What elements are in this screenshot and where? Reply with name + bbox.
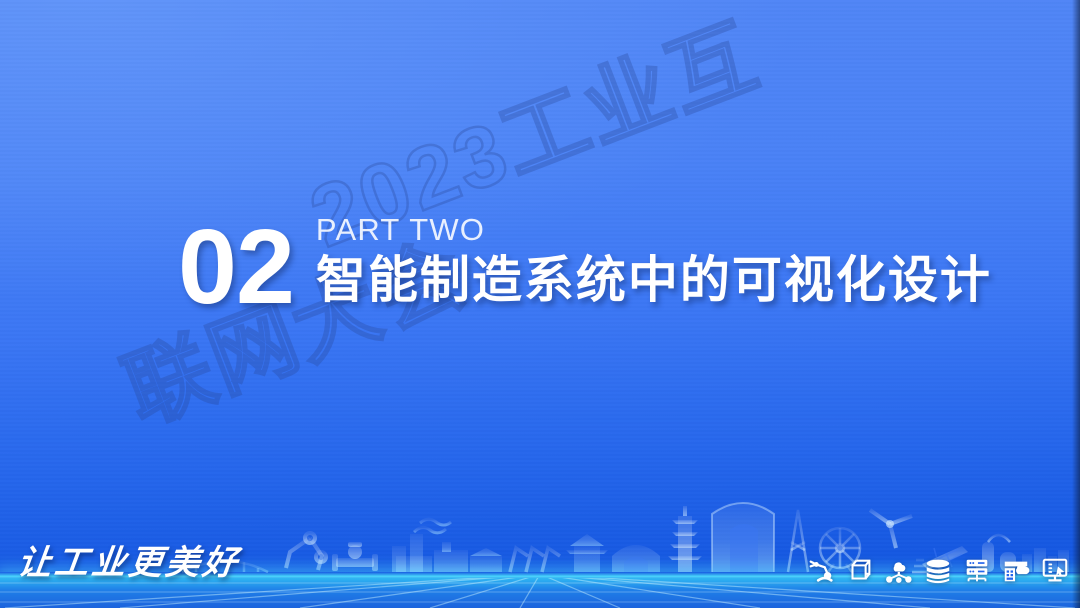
lattice-tower-silhouette xyxy=(788,510,808,572)
warehouse-silhouette xyxy=(470,548,502,572)
brand-slogan: 让工业更美好 xyxy=(15,535,243,584)
section-heading: 02 PART TWO 智能制造系统中的可视化设计 xyxy=(178,206,992,320)
oil-pumpjacks-silhouette xyxy=(510,548,560,572)
wireframe-cube-icon xyxy=(845,556,875,586)
cloud-network-icon xyxy=(884,556,914,586)
slide-right-edge xyxy=(1072,0,1080,608)
industrial-valve-silhouette xyxy=(332,542,378,571)
heading-text-group: PART TWO 智能制造系统中的可视化设计 xyxy=(316,214,992,310)
part-label: PART TWO xyxy=(316,214,992,247)
factory-smoke xyxy=(414,519,451,533)
server-rack-icon xyxy=(962,556,992,586)
section-title: 智能制造系统中的可视化设计 xyxy=(316,251,992,310)
robot-arm-icon xyxy=(806,556,836,586)
factory-chimneys-silhouette xyxy=(392,534,468,572)
gate-of-the-orient-silhouette xyxy=(712,503,774,572)
tech-icon-strip xyxy=(806,556,1070,586)
robot-arm-silhouette xyxy=(280,533,326,572)
chinese-pavilion-silhouette xyxy=(566,534,608,572)
pagoda-silhouette xyxy=(668,506,702,572)
presentation-slide: 2023工业互 联网大会 02 PART TWO 智能制造系统中的可视化设计 xyxy=(0,0,1080,608)
cloud-computing-icon xyxy=(1001,556,1031,586)
stadium-silhouette xyxy=(612,545,660,572)
database-stack-icon xyxy=(923,556,953,586)
data-screen-icon xyxy=(1040,556,1070,586)
section-number: 02 xyxy=(178,216,294,320)
